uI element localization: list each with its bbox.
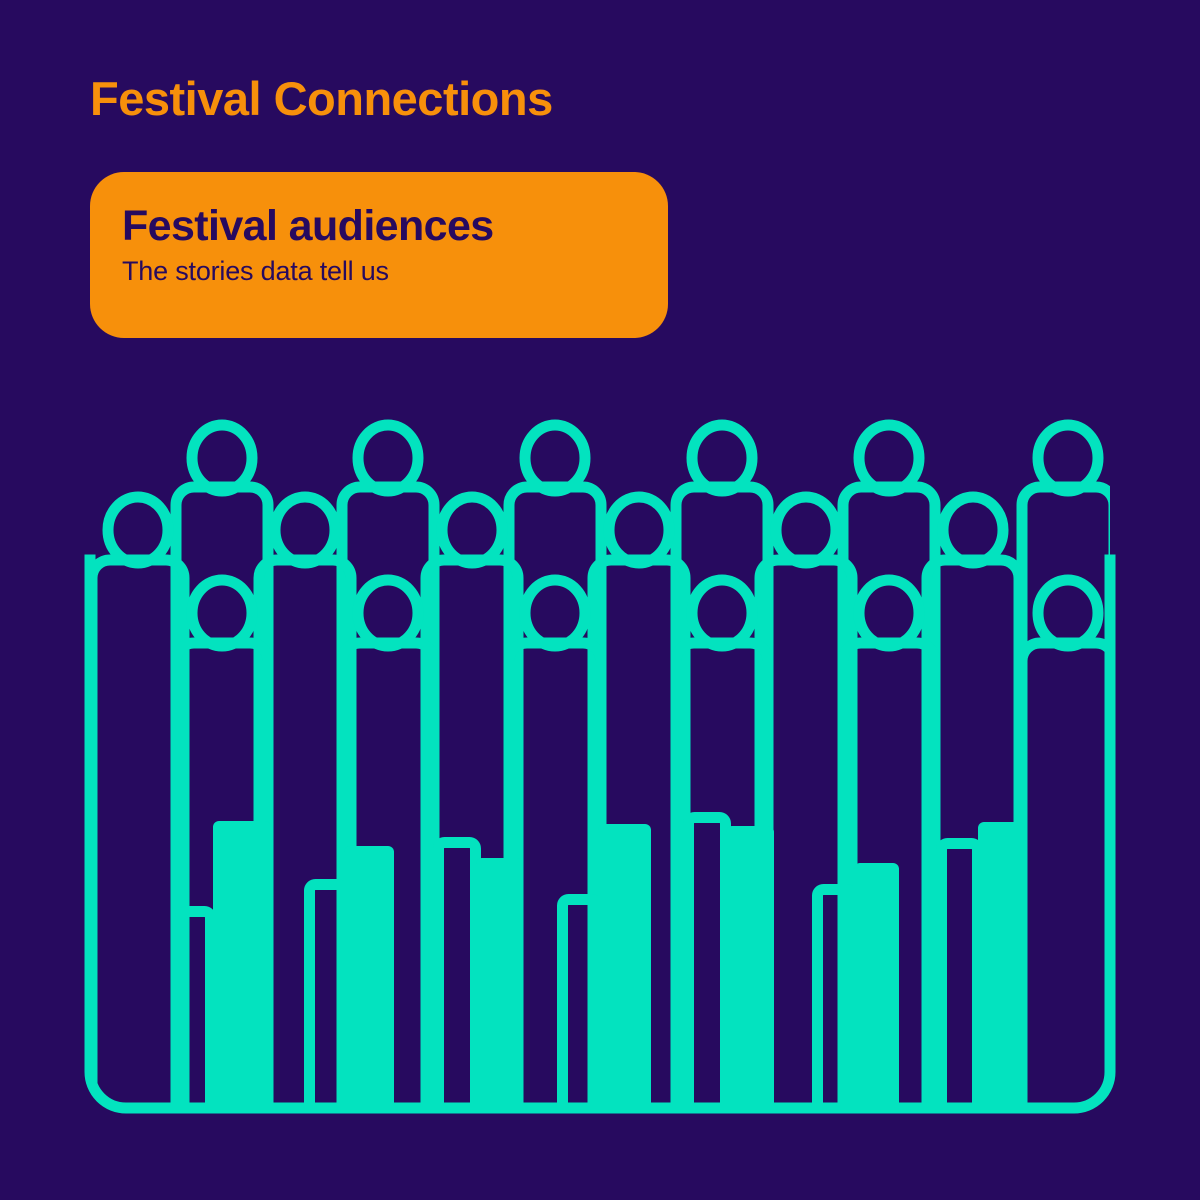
- bar-outline: [942, 844, 978, 1121]
- person-head-icon: [525, 580, 585, 646]
- illustration-svg: [0, 0, 1200, 1200]
- person-head-icon: [108, 497, 168, 563]
- bar-outline: [689, 818, 726, 1121]
- bar-chart-layer: [181, 818, 1026, 1121]
- person-head-icon: [776, 497, 836, 563]
- bar-outline: [181, 912, 211, 1121]
- person-head-icon: [525, 425, 585, 491]
- crowd-bar-chart-illustration: [0, 0, 1200, 1200]
- person-head-icon: [692, 425, 752, 491]
- person-head-icon: [859, 580, 919, 646]
- person-head-icon: [358, 425, 418, 491]
- bar-filled: [978, 822, 1025, 1120]
- bar-filled: [726, 826, 774, 1120]
- person-head-icon: [1038, 580, 1098, 646]
- person-head-icon: [442, 497, 502, 563]
- bar-filled: [213, 821, 271, 1120]
- person-head-icon: [192, 425, 252, 491]
- bar-outline: [439, 843, 476, 1121]
- bar-filled: [344, 846, 394, 1120]
- person-head-icon: [859, 425, 919, 491]
- person-figure: [1022, 580, 1114, 1148]
- bar-filled: [476, 858, 523, 1120]
- bar-filled: [854, 863, 899, 1120]
- bar-outline: [818, 890, 853, 1121]
- person-head-icon: [692, 580, 752, 646]
- person-figure: [92, 497, 184, 1148]
- person-body-icon: [1022, 643, 1114, 1148]
- person-head-icon: [358, 580, 418, 646]
- bar-filled: [598, 824, 651, 1120]
- person-body-icon: [1022, 487, 1114, 1148]
- person-head-icon: [275, 497, 335, 563]
- bar-outline: [563, 900, 598, 1121]
- person-head-icon: [192, 580, 252, 646]
- poster-canvas: Festival Connections Festival audiences …: [0, 0, 1200, 1200]
- person-head-icon: [943, 497, 1003, 563]
- person-figure: [1022, 425, 1114, 1148]
- bar-outline: [310, 885, 344, 1121]
- person-body-icon: [92, 560, 184, 1148]
- person-head-icon: [1038, 425, 1098, 491]
- person-head-icon: [609, 497, 669, 563]
